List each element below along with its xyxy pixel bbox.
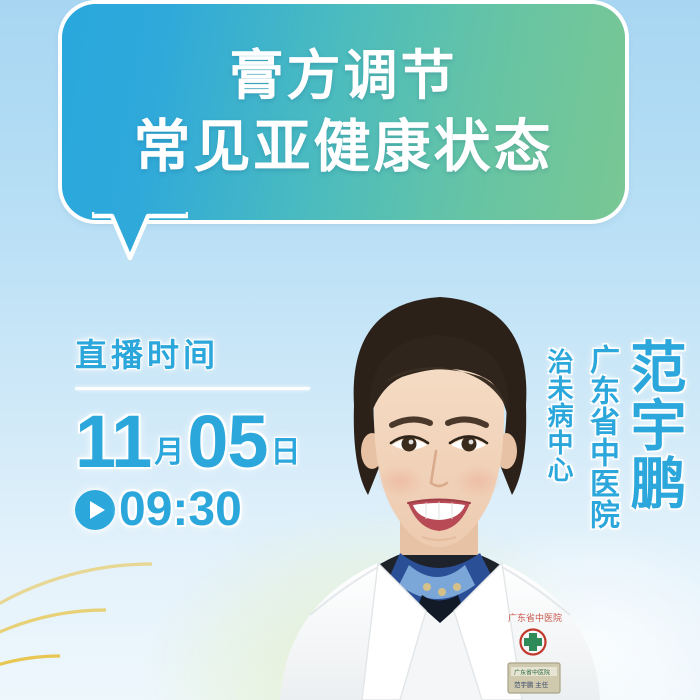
banner-title-line-1: 膏方调节: [230, 49, 458, 103]
svg-text:广东省中医院: 广东省中医院: [514, 669, 550, 677]
banner-title-line-2: 常见亚健康状态: [134, 119, 554, 176]
play-triangle-icon: [90, 501, 105, 519]
speaker-department: 治未病中心: [546, 348, 572, 483]
broadcast-time-text: 09:30: [119, 486, 242, 534]
speaker-name: 范宇鹏: [626, 338, 682, 512]
month-unit-label: 月: [154, 438, 184, 468]
svg-text:范宇鹏 主任: 范宇鹏 主任: [514, 680, 549, 689]
speaker-hospital: 广东省中医院: [586, 344, 616, 530]
live-stream-poster: 膏方调节 常见亚健康状态 直播时间 11 月 05 日 09:30: [0, 0, 700, 700]
svg-text:广东省中医院: 广东省中医院: [508, 612, 562, 623]
month-number: 11: [75, 408, 151, 476]
play-icon[interactable]: [75, 490, 115, 530]
title-banner: 膏方调节 常见亚健康状态: [62, 4, 625, 220]
speech-bubble-tail-icon: [92, 212, 188, 266]
